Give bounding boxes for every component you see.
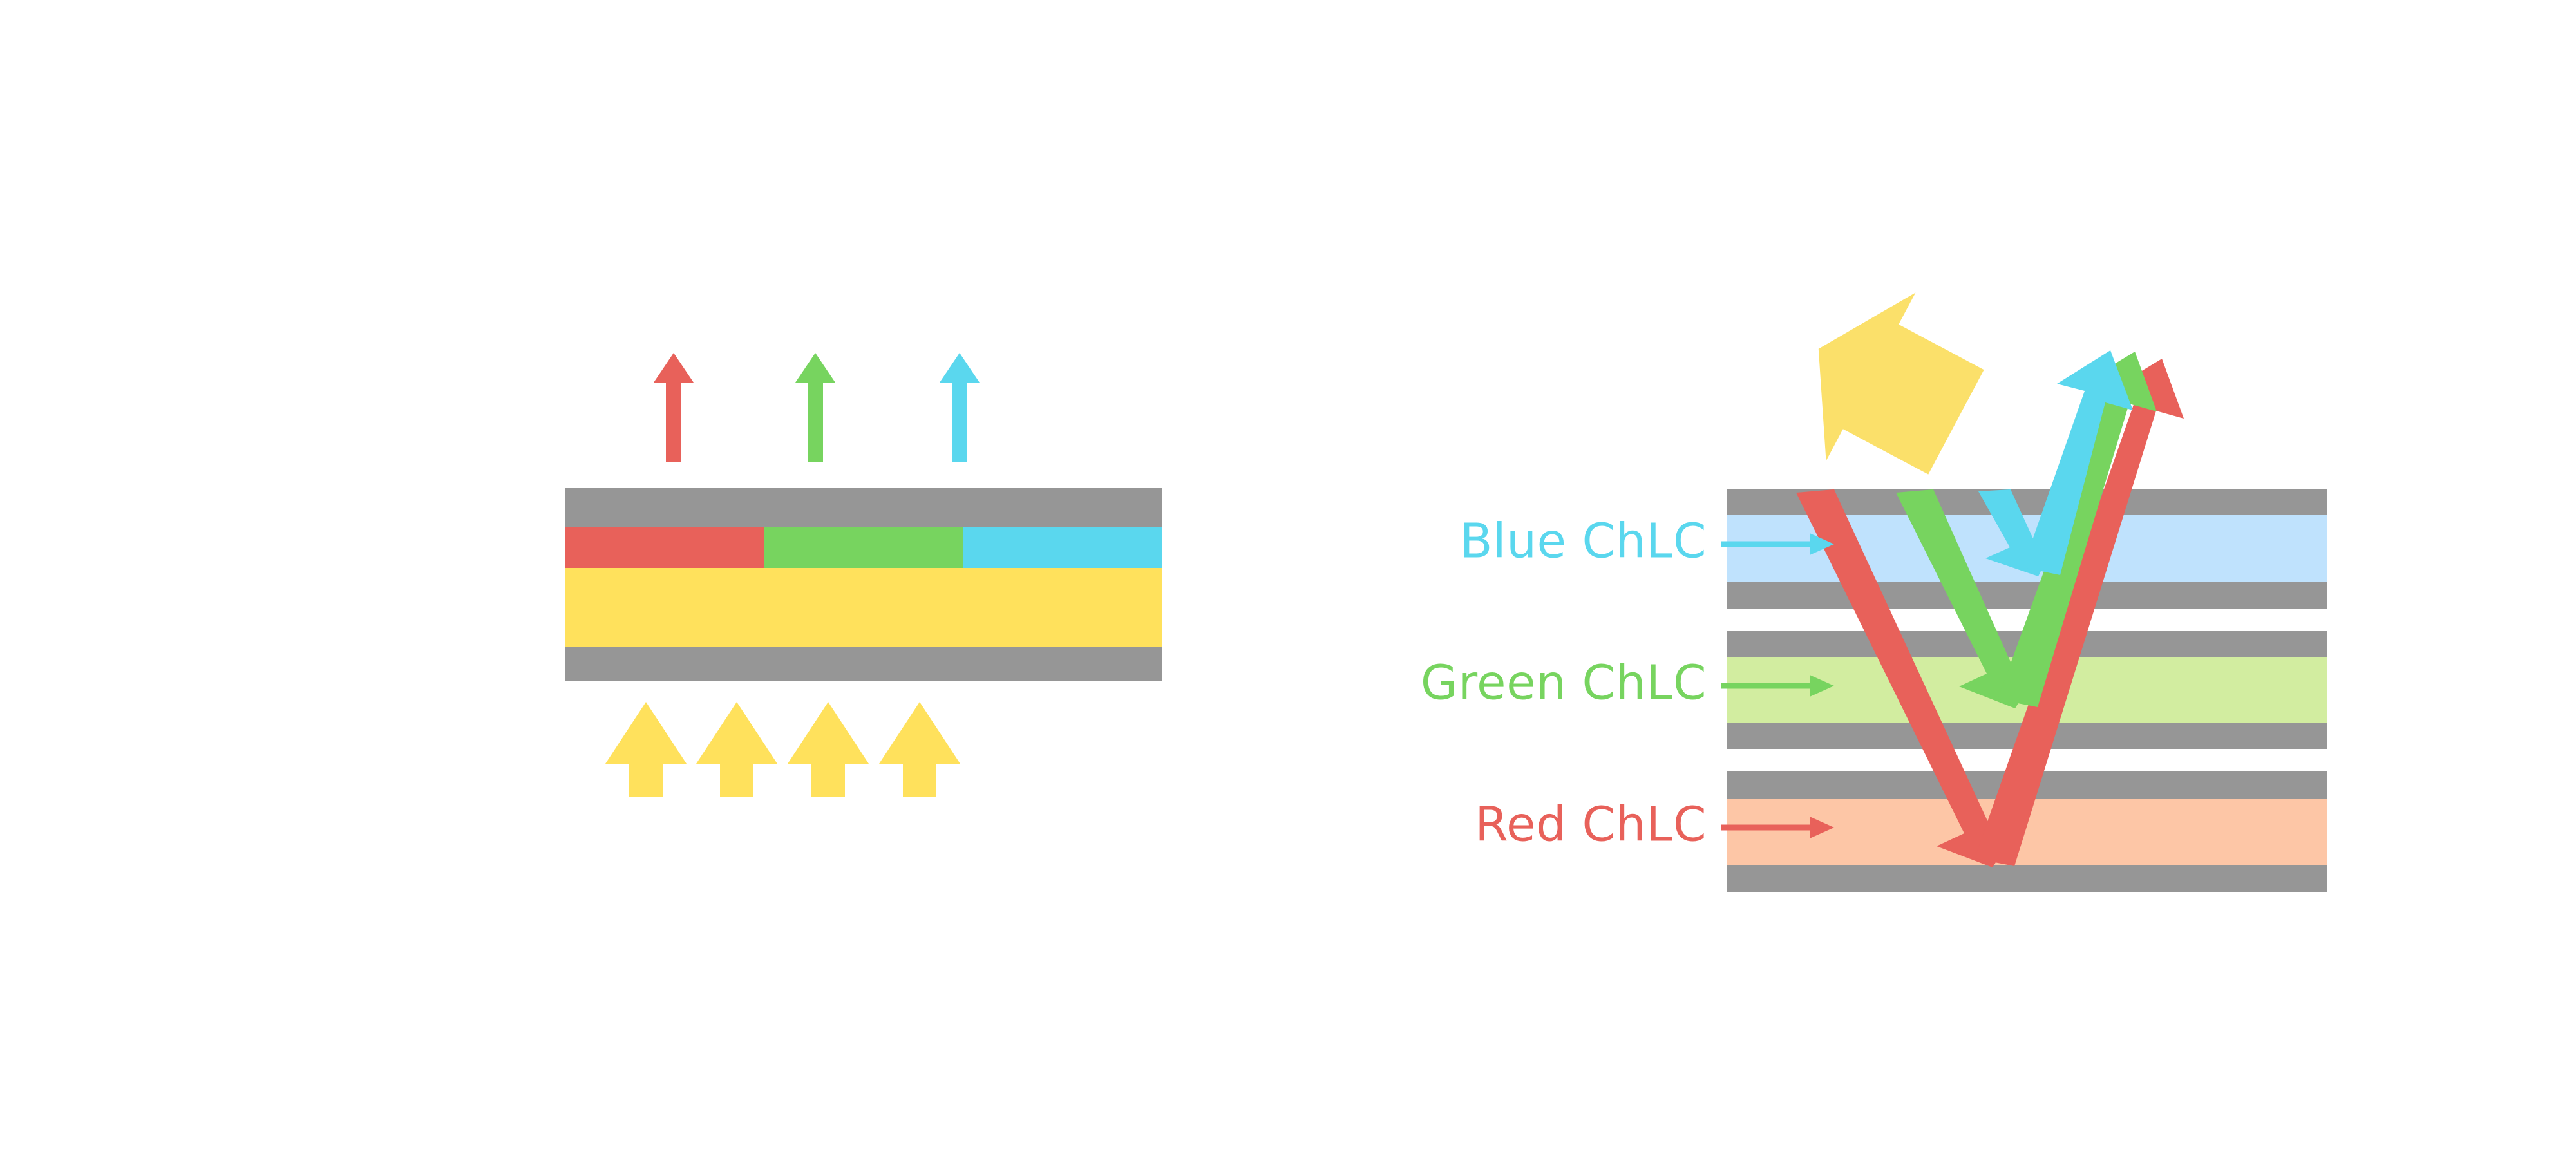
red-chlc-label: Red ChLC xyxy=(1475,797,1707,853)
green-filter-segment xyxy=(764,527,963,568)
diagram-stage: Blue ChLC Green ChLC Red ChLC xyxy=(0,0,2576,1154)
green-chlc-label: Green ChLC xyxy=(1421,656,1707,711)
backlight-layer xyxy=(565,568,1162,647)
blue-filter-segment xyxy=(963,527,1162,568)
top-electrode-layer xyxy=(565,488,1162,527)
bottom-electrode-layer xyxy=(565,647,1162,681)
blue-cell-bottom-electrode xyxy=(1727,582,2327,609)
blue-chlc-label: Blue ChLC xyxy=(1460,514,1707,569)
red-filter-segment xyxy=(565,527,764,568)
left-layer-stack xyxy=(565,488,1162,681)
red-cell-bottom-electrode xyxy=(1727,865,2327,892)
